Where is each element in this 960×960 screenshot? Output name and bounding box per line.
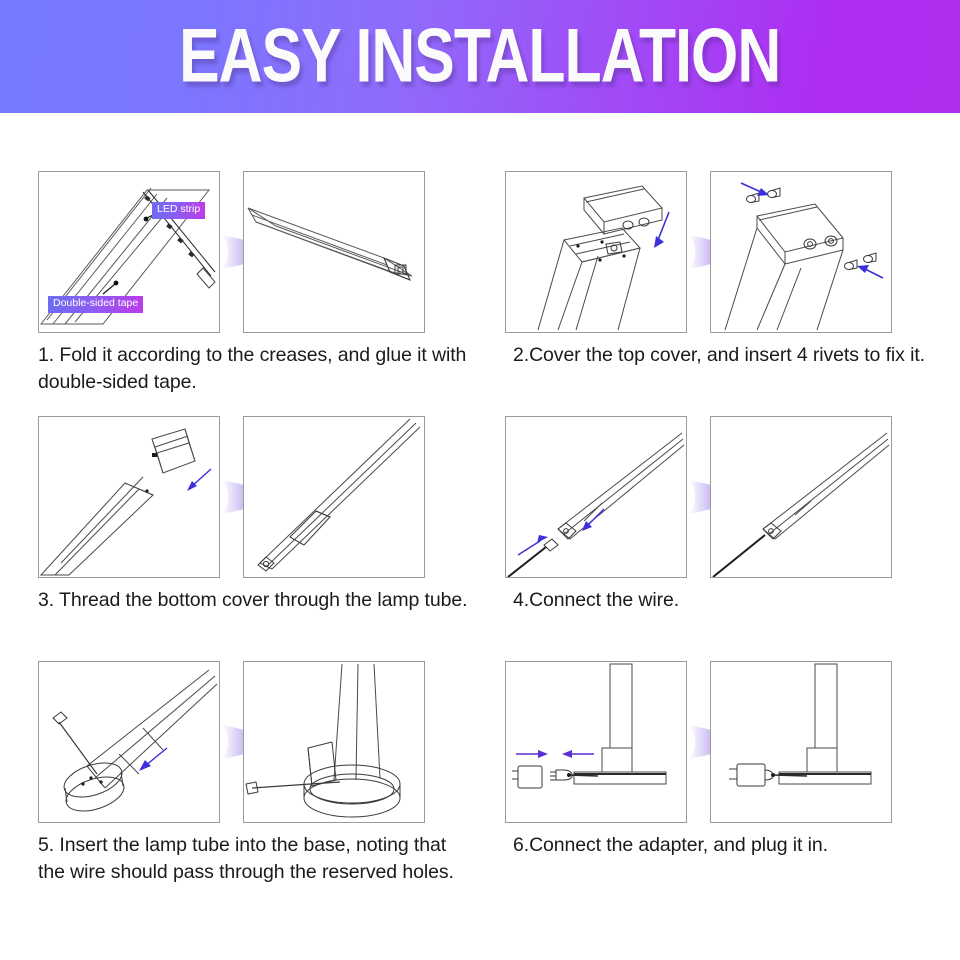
illustration-bottom-cover-above-tube: [39, 417, 219, 577]
step-3-before-panel: [38, 416, 220, 578]
step-2-after-panel: [710, 171, 892, 333]
illustration-adapter-and-plug: [506, 662, 686, 822]
step-3-caption: 3. Thread the bottom cover through the l…: [38, 587, 468, 614]
steps-grid: LED strip Double-sided tape: [0, 113, 960, 960]
step-4-before-panel: [505, 416, 687, 578]
page-title: EASY INSTALLATION: [179, 13, 780, 100]
step-1-caption: 1. Fold it according to the creases, and…: [38, 342, 468, 396]
step-2-before-panel: [505, 171, 687, 333]
illustration-top-cover-placement: [506, 172, 686, 332]
step-1: LED strip Double-sided tape: [38, 171, 468, 396]
label-double-sided-tape: Double-sided tape: [48, 296, 143, 313]
step-3-panels: [38, 416, 468, 576]
illustration-adapter-connected: [711, 662, 891, 822]
installation-guide-page: EASY INSTALLATION: [0, 0, 960, 960]
step-1-after-panel: [243, 171, 425, 333]
step-6-caption: 6.Connect the adapter, and plug it in.: [505, 832, 943, 859]
step-4-after-panel: [710, 416, 892, 578]
step-5: 5. Insert the lamp tube into the base, n…: [38, 661, 468, 886]
step-3: 3. Thread the bottom cover through the l…: [38, 416, 468, 614]
step-3-after-panel: [243, 416, 425, 578]
step-4-caption: 4.Connect the wire.: [505, 587, 943, 614]
step-5-after-panel: [243, 661, 425, 823]
step-5-caption: 5. Insert the lamp tube into the base, n…: [38, 832, 468, 886]
illustration-rivets-insertion: [711, 172, 891, 332]
illustration-wire-alignment: [506, 417, 686, 577]
label-led-strip: LED strip: [152, 202, 205, 219]
step-5-before-panel: [38, 661, 220, 823]
step-1-before-panel: LED strip Double-sided tape: [38, 171, 220, 333]
step-1-panels: LED strip Double-sided tape: [38, 171, 468, 331]
step-2-panels: [505, 171, 943, 331]
step-4-panels: [505, 416, 943, 576]
illustration-wire-connected: [711, 417, 891, 577]
page-header-banner: EASY INSTALLATION: [0, 0, 960, 113]
illustration-lamp-assembled: [244, 662, 424, 822]
illustration-cover-on-tube: [244, 417, 424, 577]
step-5-panels: [38, 661, 468, 821]
step-2: 2.Cover the top cover, and insert 4 rive…: [505, 171, 943, 369]
step-6-after-panel: [710, 661, 892, 823]
step-2-caption: 2.Cover the top cover, and insert 4 rive…: [505, 342, 943, 369]
step-6-panels: [505, 661, 943, 821]
step-4: 4.Connect the wire.: [505, 416, 943, 614]
step-6: 6.Connect the adapter, and plug it in.: [505, 661, 943, 859]
illustration-folded-profile: [244, 172, 424, 332]
illustration-tube-into-base: [39, 662, 219, 822]
step-6-before-panel: [505, 661, 687, 823]
